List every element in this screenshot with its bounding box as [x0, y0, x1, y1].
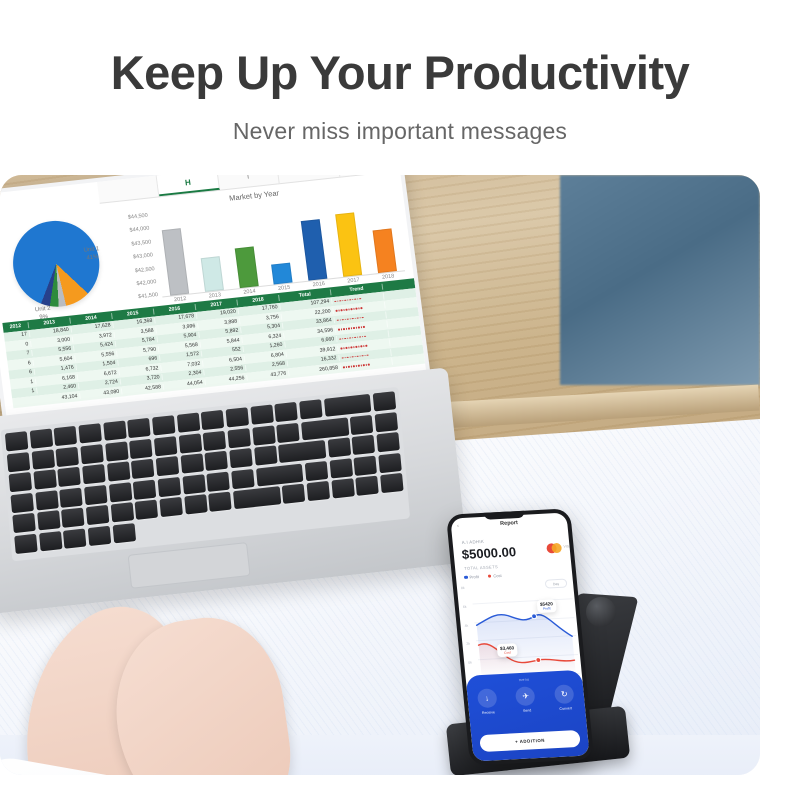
keyboard-key[interactable] [56, 446, 80, 466]
keyboard-key[interactable] [58, 467, 82, 487]
keyboard-key[interactable] [250, 405, 274, 425]
keyboard-key[interactable] [156, 456, 180, 476]
keyboard-key[interactable] [31, 449, 55, 469]
action-label: Convert [551, 706, 581, 712]
card-badge-label: VISA [563, 544, 571, 548]
action-convert[interactable]: ↻Convert [548, 684, 580, 711]
keyboard-key[interactable] [152, 415, 176, 435]
profit-data-point [531, 614, 536, 619]
action-receive[interactable]: ↓Receive [471, 688, 503, 715]
keyboard-key[interactable] [61, 508, 85, 528]
phone-line-chart: 8k6k4k2k0k [457, 578, 583, 684]
page-title: Keep Up Your Productivity [0, 48, 800, 97]
keyboard-key[interactable] [12, 513, 36, 533]
keyboard-key[interactable] [350, 414, 374, 434]
keyboard-key[interactable] [154, 436, 178, 456]
bar-2018 [373, 228, 397, 273]
spreadsheet-cell[interactable] [13, 400, 39, 403]
keyboard-key[interactable] [373, 391, 397, 411]
keyboard-key[interactable] [331, 479, 355, 499]
action-send[interactable]: ✈Send [510, 686, 542, 713]
pie-slice-label-0: Unit 141% [83, 246, 101, 263]
action-label: Receive [473, 710, 503, 716]
keyboard-key[interactable] [378, 453, 402, 473]
phone-stand-hinge[interactable] [586, 597, 616, 627]
keyboard-key[interactable] [275, 402, 299, 422]
spreadsheet-cell[interactable]: 42,588 [122, 384, 165, 394]
balance-caption: TOTAL ASSETS [464, 564, 498, 571]
refresh-icon: ↻ [554, 684, 575, 704]
keyboard-key[interactable] [29, 428, 53, 448]
legend-dot [464, 575, 468, 579]
phone-with-stand: ‹ Report A.I ADHIK $5000.00 TOTAL ASSETS… [452, 505, 662, 775]
balance-amount: $5000.00 [461, 544, 517, 562]
keyboard-key[interactable] [14, 534, 38, 554]
action-buttons: ↓Receive✈Send↻Convert [467, 684, 585, 716]
card-circle-orange [551, 543, 562, 553]
action-label: Send [512, 708, 542, 714]
keyboard-key[interactable] [229, 448, 253, 468]
keyboard-key[interactable] [205, 451, 229, 471]
spreadsheet-cell[interactable]: 43,104 [38, 393, 81, 403]
laptop-trackpad[interactable] [128, 542, 251, 589]
keyboard-key[interactable] [109, 482, 133, 502]
keyboard-key[interactable] [10, 493, 34, 513]
keyboard-key[interactable] [88, 526, 112, 546]
legend-item-profit: Profit [464, 574, 479, 580]
profit-tooltip-label: Profit [540, 606, 553, 611]
legend-label: Profit [469, 574, 479, 579]
chart-legend: ProfitCost [464, 573, 502, 580]
bar-2014 [234, 246, 258, 288]
spreadsheet-column-blank[interactable] [97, 175, 160, 202]
legend-label: Cost [493, 573, 502, 578]
keyboard-key[interactable] [299, 399, 323, 419]
keyboard-key[interactable] [374, 412, 398, 432]
keyboard-key[interactable] [354, 455, 378, 475]
keyboard-key[interactable] [356, 476, 380, 496]
keyboard-key[interactable] [159, 497, 183, 517]
keyboard-key[interactable] [35, 490, 59, 510]
keyboard-key[interactable] [278, 440, 326, 463]
keyboard-key[interactable] [105, 441, 129, 461]
keyboard-key[interactable] [252, 425, 276, 445]
keyboard-key[interactable] [37, 511, 61, 531]
keyboard-key[interactable] [324, 394, 372, 417]
keyboard-key[interactable] [7, 452, 31, 472]
keyboard-key[interactable] [231, 469, 255, 489]
bar-2016 [301, 219, 328, 281]
keyboard-key[interactable] [276, 422, 300, 442]
keyboard-key[interactable] [180, 454, 204, 474]
account-name: A.I ADHIK [461, 539, 484, 545]
keyboard-key[interactable] [178, 433, 202, 453]
keyboard-key[interactable] [227, 428, 251, 448]
phone-app-bar: ‹ Report [451, 517, 568, 535]
keyboard-key[interactable] [184, 495, 208, 515]
keyboard-key[interactable] [208, 492, 232, 512]
cost-data-point [536, 658, 541, 663]
card-badge-icon: VISA [546, 543, 563, 554]
keyboard-key[interactable] [256, 463, 304, 486]
spreadsheet-cell[interactable]: 44,256 [205, 375, 248, 385]
keyboard-key[interactable] [82, 464, 106, 484]
smartphone: ‹ Report A.I ADHIK $5000.00 TOTAL ASSETS… [446, 508, 594, 765]
keyboard-key[interactable] [39, 531, 63, 551]
pie-chart: Unit 141% Unit 29% [0, 207, 124, 323]
keyboard-key[interactable] [107, 462, 131, 482]
bar-2017 [335, 212, 362, 277]
bar-2013 [200, 256, 223, 292]
legend-dot [488, 574, 492, 578]
action-panel-caption: menu [466, 675, 582, 685]
cost-tooltip-label: Cost [500, 650, 514, 655]
product-photo: HIJK Unit 141% Unit 29% Market by Year $… [0, 175, 760, 775]
pie-chart-graphic [8, 217, 105, 312]
keyboard-key[interactable] [301, 417, 349, 440]
spreadsheet-cell[interactable]: 44,054 [164, 379, 207, 389]
keyboard-key[interactable] [112, 523, 136, 543]
keyboard-key[interactable] [203, 430, 227, 450]
cost-tooltip: $3,460 Cost [497, 643, 518, 657]
keyboard-key[interactable] [282, 484, 306, 504]
bar-2012 [162, 228, 189, 295]
laptop: HIJK Unit 141% Unit 29% Market by Year $… [0, 175, 450, 687]
keyboard-key[interactable] [176, 413, 200, 433]
keyboard-key[interactable] [84, 485, 108, 505]
keyboard-key[interactable] [127, 418, 151, 438]
keyboard-key[interactable] [307, 481, 331, 501]
keyboard-key[interactable] [103, 421, 127, 441]
keyboard-key[interactable] [376, 432, 400, 452]
keyboard-key[interactable] [201, 410, 225, 430]
keyboard-key[interactable] [329, 458, 353, 478]
phone-chart-lines [457, 578, 583, 684]
keyboard-key[interactable] [129, 438, 153, 458]
keyboard-key[interactable] [33, 470, 57, 490]
phone-screen-title: Report [451, 518, 568, 530]
keyboard-key[interactable] [158, 477, 182, 497]
profit-tooltip: $5420 Profit [537, 599, 557, 613]
keyboard-key[interactable] [9, 472, 33, 492]
keyboard-key[interactable] [133, 479, 157, 499]
legend-item-cost: Cost [488, 573, 502, 579]
keyboard-key[interactable] [54, 426, 78, 446]
addition-button[interactable]: + ADDITION [479, 730, 581, 752]
phone-action-panel: menu ↓Receive✈Send↻Convert + ADDITION [465, 670, 589, 762]
keyboard-key[interactable] [78, 423, 102, 443]
bar-2015 [272, 262, 293, 284]
spreadsheet-cell[interactable]: 43,776 [247, 370, 290, 380]
send-icon: ✈ [515, 686, 536, 706]
keyboard-key[interactable] [182, 474, 206, 494]
keyboard-key[interactable] [305, 461, 329, 481]
keyboard-key[interactable] [380, 473, 404, 493]
keyboard-key[interactable] [352, 435, 376, 455]
spreadsheet-cell[interactable]: 43,080 [80, 388, 123, 398]
keyboard-key[interactable] [207, 471, 231, 491]
download-icon: ↓ [477, 688, 498, 708]
keyboard-key[interactable] [254, 446, 278, 466]
keyboard-key[interactable] [327, 438, 351, 458]
keyboard-key[interactable] [80, 444, 104, 464]
laptop-keyboard[interactable] [1, 387, 411, 562]
page-subtitle: Never miss important messages [0, 118, 800, 145]
phone-screen[interactable]: ‹ Report A.I ADHIK $5000.00 TOTAL ASSETS… [450, 513, 589, 762]
keyboard-key[interactable] [63, 528, 87, 548]
promo-banner: Keep Up Your Productivity Never miss imp… [0, 0, 800, 800]
keyboard-key[interactable] [225, 407, 249, 427]
keyboard-key[interactable] [131, 459, 155, 479]
keyboard-key[interactable] [59, 487, 83, 507]
keyboard-key[interactable] [135, 500, 159, 520]
keyboard-key[interactable] [86, 505, 110, 525]
keyboard-key[interactable] [233, 487, 281, 510]
keyboard-key[interactable] [110, 503, 134, 523]
background-wall [560, 175, 760, 385]
keyboard-key[interactable] [5, 431, 29, 451]
